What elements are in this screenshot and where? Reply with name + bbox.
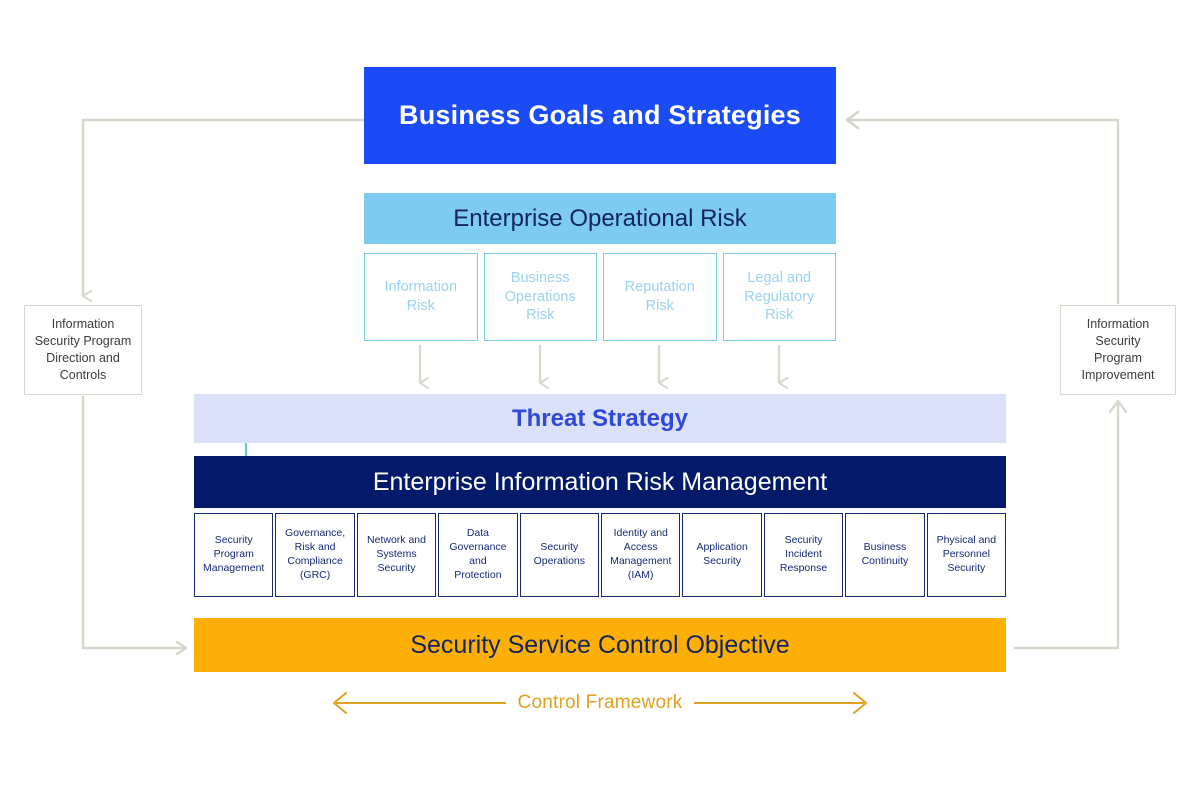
risk-box-information: InformationRisk [364,253,478,341]
risk-label: InformationRisk [384,278,457,315]
domain-box-network-systems-security: Network andSystemsSecurity [357,513,436,597]
domain-label: SecurityIncidentResponse [780,534,827,576]
note-label: InformationSecurity ProgramDirection and… [35,316,132,384]
domain-label: BusinessContinuity [862,541,909,569]
enterprise-operational-risk-label: Enterprise Operational Risk [453,205,746,233]
domain-box-security-incident-response: SecurityIncidentResponse [764,513,843,597]
risk-box-legal-regulatory: Legal andRegulatoryRisk [723,253,837,341]
threat-strategy-label: Threat Strategy [512,405,688,433]
enterprise-operational-risk-banner: Enterprise Operational Risk [364,193,836,244]
domain-label: Network andSystemsSecurity [367,534,426,576]
note-label: InformationSecurityProgramImprovement [1082,316,1155,384]
domain-label: Identity andAccessManagement(IAM) [610,527,671,582]
domain-label: Governance,Risk andCompliance(GRC) [285,527,345,582]
control-framework-label: Control Framework [506,692,695,714]
domain-box-data-governance-protection: DataGovernanceandProtection [438,513,517,597]
domain-label: DataGovernanceandProtection [449,527,506,582]
note-information-security-program-improvement: InformationSecurityProgramImprovement [1060,305,1176,395]
security-service-control-objective-label: Security Service Control Objective [410,631,789,660]
risk-box-reputation: ReputationRisk [603,253,717,341]
domain-box-business-continuity: BusinessContinuity [845,513,924,597]
domain-box-physical-personnel-security: Physical andPersonnelSecurity [927,513,1006,597]
domain-label: Physical andPersonnelSecurity [937,534,997,576]
security-service-control-objective-banner: Security Service Control Objective [194,618,1006,672]
risk-to-threat-arrows [420,345,779,383]
business-goals-banner: Business Goals and Strategies [364,67,836,164]
risk-label: Legal andRegulatoryRisk [744,269,814,325]
risk-category-row: InformationRisk BusinessOperationsRisk R… [364,253,836,341]
domain-label: SecurityOperations [534,541,585,569]
security-domain-row: SecurityProgramManagement Governance,Ris… [194,513,1006,597]
threat-strategy-banner: Threat Strategy [194,394,1006,443]
domain-box-security-operations: SecurityOperations [520,513,599,597]
business-goals-label: Business Goals and Strategies [399,100,801,131]
enterprise-information-risk-management-banner: Enterprise Information Risk Management [194,456,1006,508]
domain-box-security-program-management: SecurityProgramManagement [194,513,273,597]
domain-box-iam: Identity andAccessManagement(IAM) [601,513,680,597]
risk-box-business-operations: BusinessOperationsRisk [484,253,598,341]
risk-label: ReputationRisk [625,278,695,315]
diagram-canvas: Business Goals and Strategies Enterprise… [0,0,1200,792]
control-framework-span: Control Framework [320,688,880,718]
note-information-security-program-direction-and-controls: InformationSecurity ProgramDirection and… [24,305,142,395]
domain-box-application-security: ApplicationSecurity [682,513,761,597]
risk-label: BusinessOperationsRisk [505,269,576,325]
domain-box-grc: Governance,Risk andCompliance(GRC) [275,513,354,597]
domain-label: ApplicationSecurity [696,541,747,569]
domain-label: SecurityProgramManagement [203,534,264,576]
enterprise-information-risk-management-label: Enterprise Information Risk Management [373,468,827,497]
